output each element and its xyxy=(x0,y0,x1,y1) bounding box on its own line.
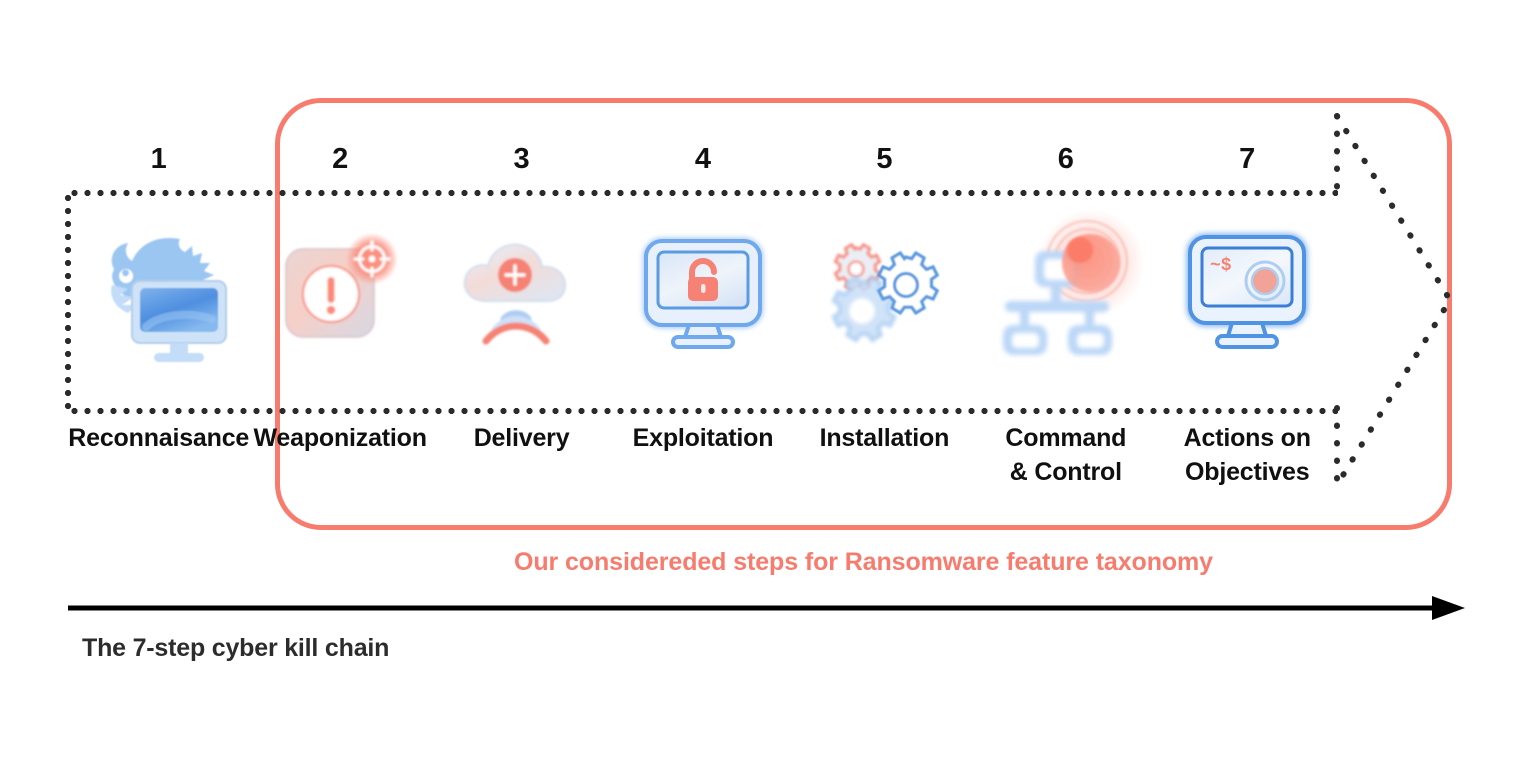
terminal-target-icon: ~$ xyxy=(1157,184,1338,402)
step-number: 5 xyxy=(876,140,892,184)
step-actions-on-objectives[interactable]: 7 xyxy=(1157,140,1338,500)
step-exploitation[interactable]: 4 xyxy=(612,140,793,500)
kill-chain-diagram: 1 xyxy=(0,0,1536,768)
step-installation[interactable]: 5 xyxy=(794,140,975,500)
ransomware-scope-caption: Our considereded steps for Ransomware fe… xyxy=(275,548,1452,577)
step-command-and-control[interactable]: 6 xyxy=(975,140,1156,500)
step-number: 4 xyxy=(695,140,711,184)
steps-row: 1 xyxy=(68,140,1338,500)
step-number: 2 xyxy=(332,140,348,184)
network-beacon-icon xyxy=(975,184,1156,402)
warning-crosshair-icon xyxy=(249,184,430,402)
svg-text:~$: ~$ xyxy=(1210,256,1232,276)
step-label: Installation xyxy=(820,422,950,456)
step-label: Weaponization xyxy=(253,422,426,456)
step-label: Reconnaisance xyxy=(68,422,249,456)
step-label: Exploitation xyxy=(633,422,774,456)
cloud-upload-wifi-icon xyxy=(431,184,612,402)
dragon-monitor-icon xyxy=(68,184,249,402)
timeline-axis-arrow xyxy=(60,592,1480,624)
step-number: 7 xyxy=(1239,140,1255,184)
step-label: Delivery xyxy=(474,422,570,456)
step-delivery[interactable]: 3 xyxy=(431,140,612,500)
step-number: 3 xyxy=(513,140,529,184)
gears-icon xyxy=(794,184,975,402)
step-number: 1 xyxy=(151,140,167,184)
step-number: 6 xyxy=(1058,140,1074,184)
step-label: Command & Control xyxy=(1005,422,1126,489)
step-weaponization[interactable]: 2 xyxy=(249,140,430,500)
step-reconnaisance[interactable]: 1 xyxy=(68,140,249,500)
timeline-axis-caption: The 7-step cyber kill chain xyxy=(82,634,389,663)
monitor-unlocked-padlock-icon xyxy=(612,184,793,402)
step-label: Actions on Objectives xyxy=(1184,422,1311,489)
